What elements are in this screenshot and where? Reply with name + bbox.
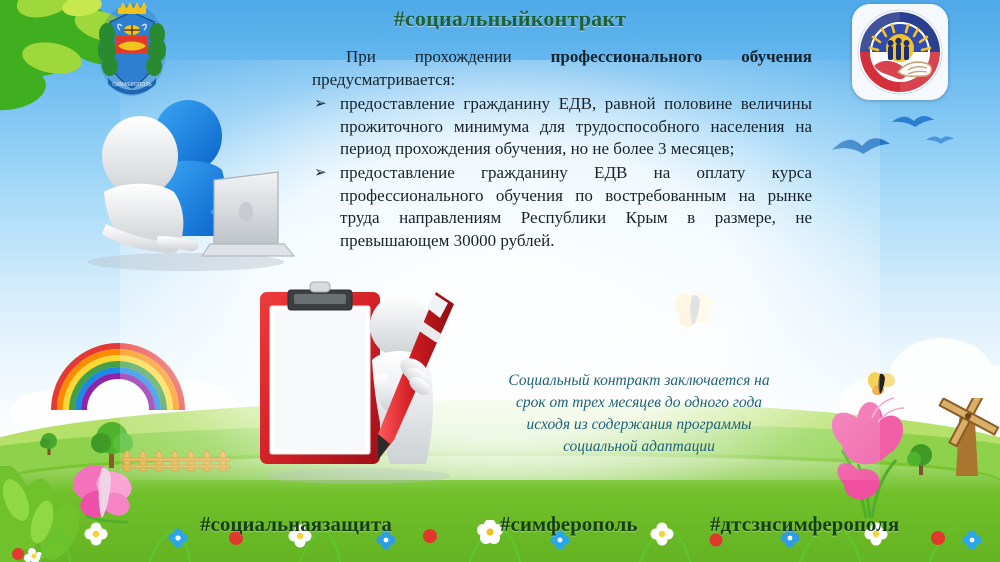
- contract-term-note: Социальный контракт заключается на срок …: [480, 370, 798, 458]
- intro-bold: профессионального обучения: [551, 47, 812, 66]
- illustration-people-laptop: [62, 96, 310, 274]
- hashtag-bar: #социальнаязащита #симферополь #дтсзнсим…: [0, 512, 1000, 552]
- list-item: ➢ предоставление гражданину ЕДВ, равной …: [312, 93, 812, 161]
- tree-distant-icon: [38, 432, 60, 456]
- note-line: срок от трех месяцев до одного года: [480, 392, 798, 414]
- note-line: Социальный контракт заключается на: [480, 370, 798, 392]
- hashtag-simferopol: #симферополь: [500, 512, 637, 537]
- list-item-text: предоставление гражданину ЕДВ, равной по…: [340, 94, 812, 158]
- intro-tail: предусматривается:: [312, 70, 455, 89]
- simferopol-coat-of-arms-icon: СИМФЕРОПОЛЬ: [96, 2, 168, 98]
- page-title: #социальныйконтракт: [300, 6, 720, 32]
- note-line: социальной адаптации: [480, 436, 798, 458]
- list-item: ➢ предоставление гражданину ЕДВ на оплат…: [312, 162, 812, 252]
- illustration-clipboard-pen: [248, 278, 460, 486]
- benefits-list: ➢ предоставление гражданину ЕДВ, равной …: [312, 93, 812, 252]
- svg-text:СИМФЕРОПОЛЬ: СИМФЕРОПОЛЬ: [112, 82, 152, 88]
- bullet-arrow-icon: ➢: [314, 163, 327, 183]
- hashtag-socialnaya-zashchita: #социальнаязащита: [200, 512, 392, 537]
- list-item-text: предоставление гражданину ЕДВ на оплату …: [340, 163, 812, 250]
- note-line: исходя из содержания программы: [480, 414, 798, 436]
- department-logo-icon: [852, 4, 948, 100]
- intro-lead: При прохождении: [346, 47, 551, 66]
- poster-canvas: СИМФЕРОПОЛЬ: [0, 0, 1000, 562]
- hashtag-dtszn-simferopolya: #дтсзнсимферополя: [710, 512, 899, 537]
- intro-paragraph: При прохождении профессионального обучен…: [312, 46, 812, 91]
- body-text-block: При прохождении профессионального обучен…: [312, 46, 812, 253]
- bullet-arrow-icon: ➢: [314, 94, 327, 114]
